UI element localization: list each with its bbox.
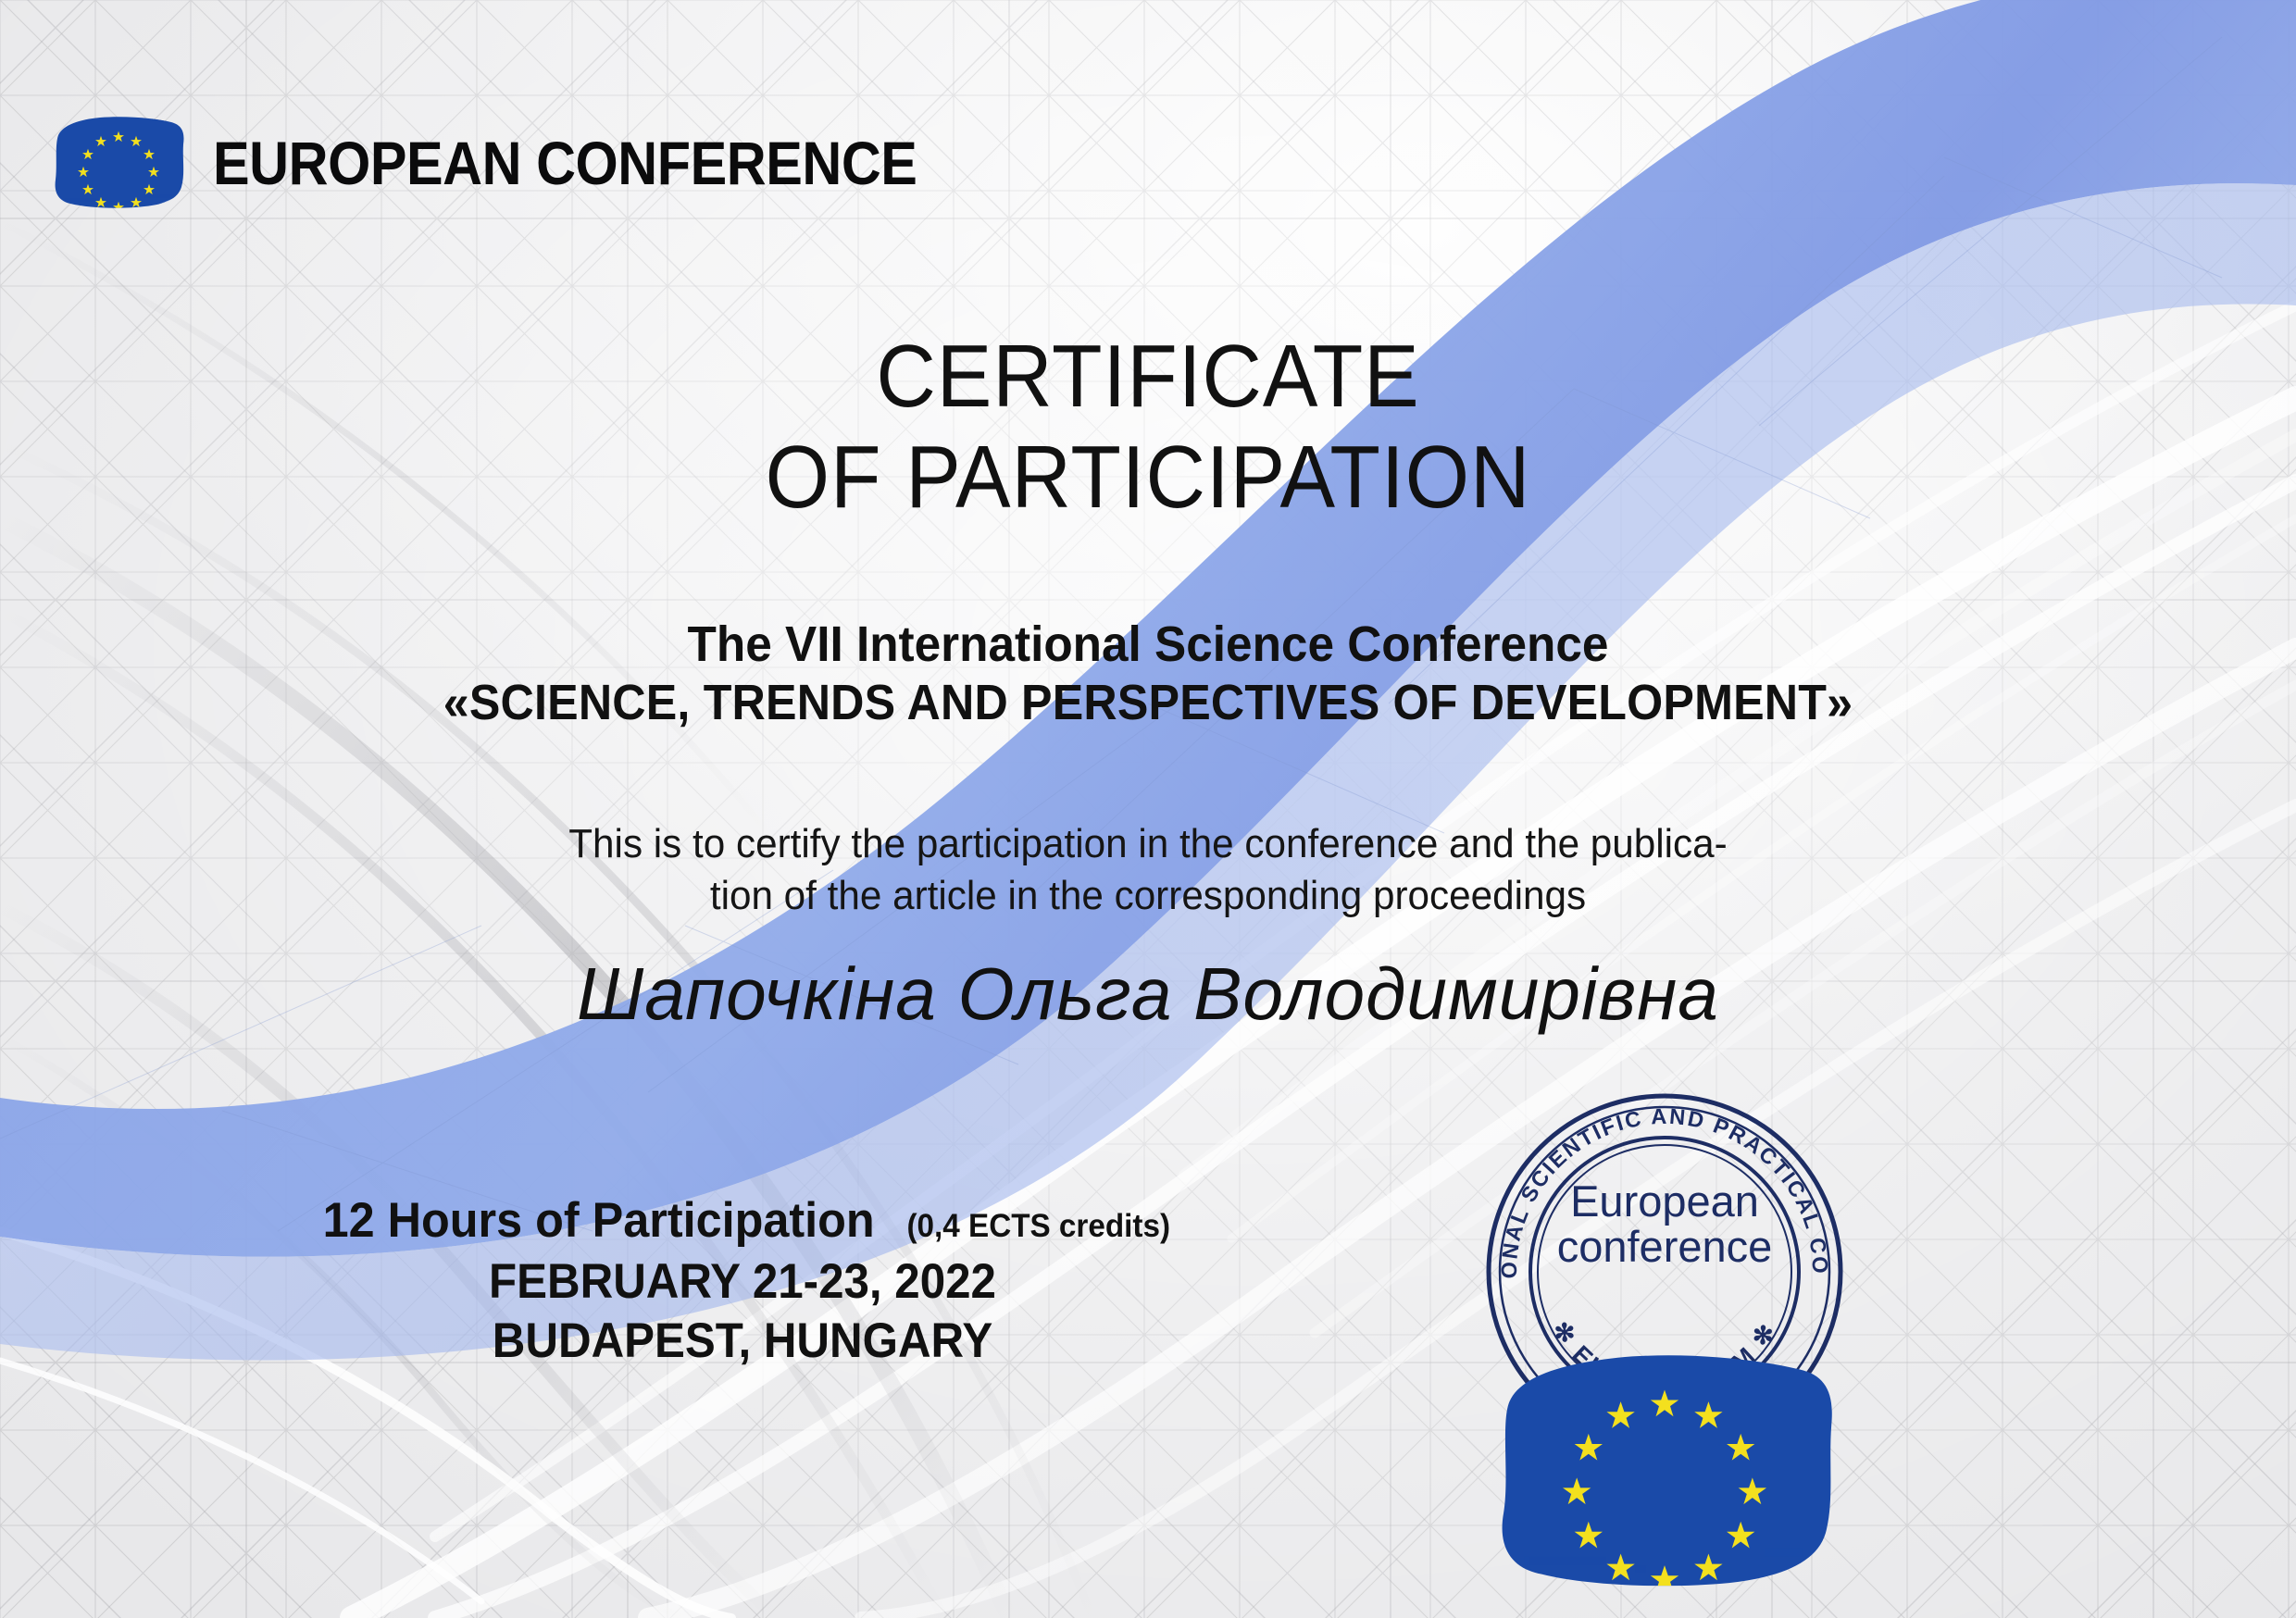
seal-eu-flag-brush-icon xyxy=(1483,1290,1846,1618)
conference-block: The VII International Science Conference… xyxy=(0,616,2296,732)
certify-statement: This is to certify the participation in … xyxy=(426,818,1870,923)
brand-title: EUROPEAN CONFERENCE xyxy=(213,132,917,193)
conference-edition: The VII International Science Conference xyxy=(57,616,2239,674)
header-logo-block: EUROPEAN CONFERENCE xyxy=(48,113,995,213)
event-location: BUDAPEST, HUNGARY xyxy=(286,1312,1199,1371)
title-line-2: OF PARTICIPATION xyxy=(81,427,2215,528)
certificate-content: CERTIFICATE OF PARTICIPATION The VII Int… xyxy=(0,0,2296,1618)
event-date: FEBRUARY 21-23, 2022 xyxy=(286,1252,1199,1312)
certificate-canvas: EUROPEAN CONFERENCE CERTIFICATE OF PARTI… xyxy=(0,0,2296,1618)
hours-label: 12 Hours of Participation xyxy=(322,1194,874,1247)
certify-line-1: This is to certify the participation in … xyxy=(455,818,1841,870)
title-line-1: CERTIFICATE xyxy=(81,326,2215,427)
certify-line-2: tion of the article in the corresponding… xyxy=(455,870,1841,922)
participation-details: 12 Hours of Participation(0,4 ECTS credi… xyxy=(252,1194,1233,1370)
page-title: CERTIFICATE OF PARTICIPATION xyxy=(0,326,2296,529)
ects-label: (0,4 ECTS credits) xyxy=(906,1209,1170,1244)
eu-flag-brush-icon xyxy=(48,113,189,213)
recipient-name: Шапочкіна Ольга Володимирівна xyxy=(23,952,2273,1037)
conference-name: «SCIENCE, TRENDS AND PERSPECTIVES OF DEV… xyxy=(81,674,2215,733)
official-seal: INTERNATIONAL SCIENTIFIC AND PRACTICAL C… xyxy=(1483,1090,1846,1453)
hours-row: 12 Hours of Participation(0,4 ECTS credi… xyxy=(252,1194,1233,1247)
seal-outer-text: INTERNATIONAL SCIENTIFIC AND PRACTICAL C… xyxy=(1483,1090,1832,1279)
